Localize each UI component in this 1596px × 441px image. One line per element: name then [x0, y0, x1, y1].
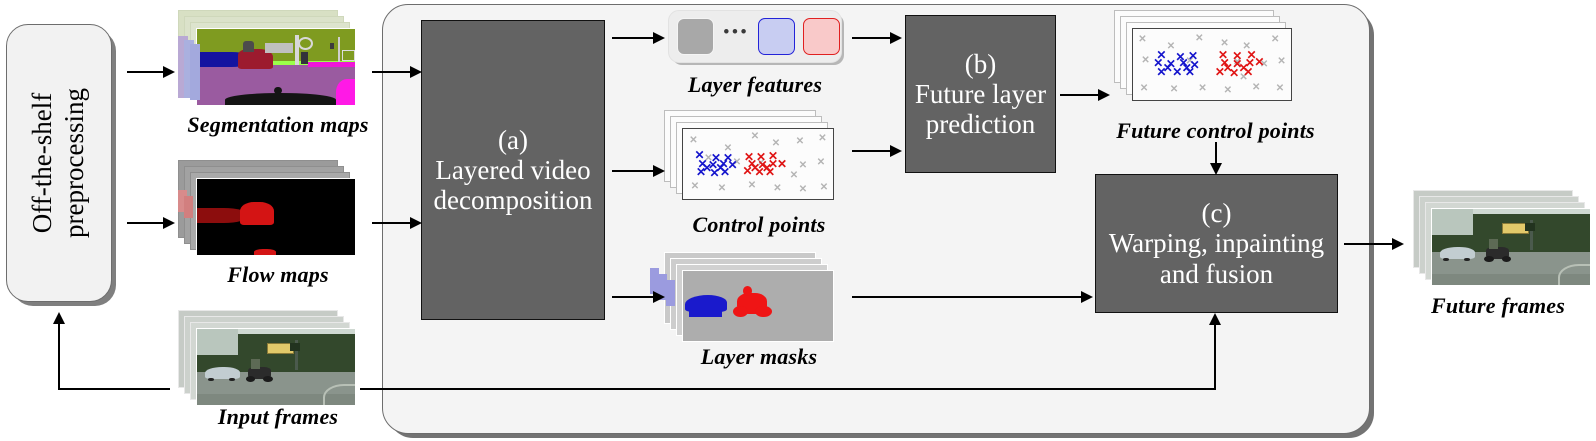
- block-a-tag: (a): [498, 125, 528, 155]
- control-point-marker: ✕: [1252, 83, 1260, 93]
- layer-feature-swatch-gray: [677, 18, 714, 55]
- block-c-tag: (c): [1202, 198, 1232, 228]
- control-point-marker: ✕: [820, 183, 828, 193]
- arrowhead-right: [653, 291, 665, 303]
- stack-edge: [666, 280, 675, 306]
- block-warping-inpainting-fusion[interactable]: (c) Warping, inpainting and fusion: [1095, 174, 1338, 313]
- control-point-marker: ✕: [1182, 62, 1192, 74]
- arrowhead-right: [410, 66, 422, 78]
- control-point-marker: ✕: [691, 182, 699, 192]
- control-point-marker: ✕: [762, 162, 772, 174]
- future-frame-image: [1431, 208, 1591, 286]
- input-frame-image: [196, 328, 356, 406]
- arrowhead-right: [890, 145, 902, 157]
- arrowhead-right: [1392, 238, 1404, 250]
- segmentation-maps-stack: [178, 10, 378, 120]
- control-point-marker: ✕: [751, 132, 759, 142]
- preprocessing-label: Off-the-shelf preprocessing: [27, 88, 91, 238]
- arrowhead-right: [653, 32, 665, 44]
- future-frames-caption: Future frames: [1403, 293, 1593, 319]
- control-point-marker: ✕: [772, 139, 780, 149]
- off-the-shelf-preprocessing-block[interactable]: Off-the-shelf preprocessing: [6, 24, 112, 302]
- block-future-layer-prediction[interactable]: (b) Future layer prediction: [905, 15, 1056, 173]
- control-point-marker: ✕: [1141, 56, 1149, 66]
- control-point-marker: ✕: [1138, 35, 1146, 45]
- segmentation-map-image: [196, 28, 356, 106]
- future-frames-stack: [1413, 190, 1596, 295]
- control-point-marker: ✕: [715, 162, 725, 174]
- flow-map-image: [196, 178, 356, 256]
- arrowhead-up: [1209, 313, 1221, 325]
- control-point-marker: ✕: [777, 158, 787, 170]
- block-c-line1: Warping, inpainting: [1109, 228, 1324, 258]
- arrow-block-c-to-future-frames: [1344, 243, 1396, 245]
- layer-masks-stack: [664, 252, 854, 352]
- block-layered-video-decomposition[interactable]: (a) Layered video decomposition: [421, 20, 605, 320]
- control-point-marker: ✕: [817, 158, 825, 168]
- segmentation-maps-caption: Segmentation maps: [178, 112, 378, 138]
- arrow-layer-masks-to-block-c: [852, 296, 1084, 298]
- block-a-line2: decomposition: [434, 185, 593, 215]
- block-c-line2: and fusion: [1160, 259, 1273, 289]
- layer-features-caption: Layer features: [668, 72, 842, 98]
- control-point-marker: ✕: [689, 136, 697, 146]
- arrowhead-down: [1210, 163, 1222, 175]
- control-point-marker: ✕: [1223, 62, 1233, 74]
- preprocessing-label-line1: Off-the-shelf: [27, 88, 59, 238]
- flow-maps-caption: Flow maps: [178, 262, 378, 288]
- block-b-line1: Future layer: [915, 79, 1046, 109]
- control-point-marker: ✕: [718, 184, 726, 194]
- arrow-flow-to-block-a: [372, 222, 414, 224]
- control-point-marker: ✕: [1163, 62, 1173, 74]
- arrowhead-right: [163, 217, 175, 229]
- arrowhead-right: [653, 165, 665, 177]
- arrowhead-right: [890, 32, 902, 44]
- control-point-marker: ✕: [1276, 84, 1284, 94]
- layer-mask-image: [682, 270, 834, 342]
- arrow-preproc-to-segmentation: [127, 71, 165, 73]
- future-control-points-plot: ✕✕✕✕✕✕✕✕✕✕✕✕✕✕✕✕✕✕✕✕✕✕✕✕✕✕✕✕✕✕✕✕✕✕✕✕✕✕✕✕…: [1132, 28, 1292, 101]
- control-point-marker: ✕: [1140, 84, 1148, 94]
- control-point-marker: ✕: [1224, 86, 1232, 96]
- control-point-marker: ✕: [1277, 57, 1285, 67]
- arrowhead-right: [163, 66, 175, 78]
- control-point-marker: ✕: [1271, 35, 1279, 45]
- control-point-marker: ✕: [773, 184, 781, 194]
- control-point-marker: ✕: [818, 134, 826, 144]
- control-point-marker: ✕: [1167, 42, 1175, 52]
- control-point-marker: ✕: [1170, 85, 1178, 95]
- control-point-marker: ✕: [1198, 84, 1206, 94]
- arrow-segmentation-to-block-a: [372, 71, 414, 73]
- stack-edge: [184, 196, 193, 218]
- arrow-block-a-to-control-points: [612, 170, 656, 172]
- flow-maps-stack: [178, 160, 378, 270]
- arrowhead-right: [1098, 89, 1110, 101]
- control-point-marker: ✕: [796, 137, 804, 147]
- block-b-line2: prediction: [926, 109, 1035, 139]
- future-control-points-stack: ✕✕✕✕✕✕✕✕✕✕✕✕✕✕✕✕✕✕✕✕✕✕✕✕✕✕✕✕✕✕✕✕✕✕✕✕✕✕✕✕…: [1114, 10, 1314, 115]
- arrowhead-right: [410, 217, 422, 229]
- arrow-preproc-to-flow: [127, 222, 165, 224]
- layer-feature-swatch-red: [803, 18, 840, 55]
- control-point-marker: ✕: [799, 185, 807, 195]
- arrowhead-right: [1081, 291, 1093, 303]
- arrow-block-a-to-layer-masks: [612, 296, 656, 298]
- layer-feature-swatch-blue: [758, 18, 795, 55]
- arrowhead-up: [53, 312, 65, 324]
- arrow-input-frames-feedback-up: [58, 320, 60, 390]
- control-point-marker: ✕: [1239, 62, 1249, 74]
- arrow-block-a-to-layer-features: [612, 37, 656, 39]
- control-point-marker: ✕: [799, 161, 807, 171]
- control-points-plot: ✕✕✕✕✕✕✕✕✕✕✕✕✕✕✕✕✕✕✕✕✕✕✕✕✕✕✕✕✕✕✕✕✕✕✕✕✕✕✕✕…: [682, 128, 834, 200]
- control-point-marker: ✕: [748, 181, 756, 191]
- future-control-points-caption: Future control points: [1093, 118, 1338, 144]
- control-point-marker: ✕: [1254, 56, 1264, 68]
- block-b-tag: (b): [965, 49, 996, 79]
- control-point-marker: ✕: [702, 162, 712, 174]
- control-points-stack: ✕✕✕✕✕✕✕✕✕✕✕✕✕✕✕✕✕✕✕✕✕✕✕✕✕✕✕✕✕✕✕✕✕✕✕✕✕✕✕✕…: [664, 110, 854, 210]
- arrow-input-frames-feedback-run: [58, 388, 170, 390]
- preprocessing-label-line2: preprocessing: [59, 88, 91, 238]
- control-points-caption: Control points: [664, 212, 854, 238]
- figure-canvas: Off-the-shelf preprocessing: [0, 0, 1596, 441]
- control-point-marker: ✕: [790, 171, 798, 181]
- stack-edge: [190, 44, 200, 100]
- control-point-marker: ✕: [750, 162, 760, 174]
- arrow-input-frames-bottom-run: [360, 388, 1216, 390]
- layer-features-panel: •••: [668, 10, 842, 63]
- layer-features-ellipsis: •••: [723, 23, 749, 51]
- layer-masks-caption: Layer masks: [664, 344, 854, 370]
- arrow-input-frames-elbow-up: [1214, 320, 1216, 390]
- input-frames-caption: Input frames: [178, 404, 378, 430]
- control-point-marker: ✕: [1195, 34, 1203, 44]
- block-a-line1: Layered video: [435, 155, 590, 185]
